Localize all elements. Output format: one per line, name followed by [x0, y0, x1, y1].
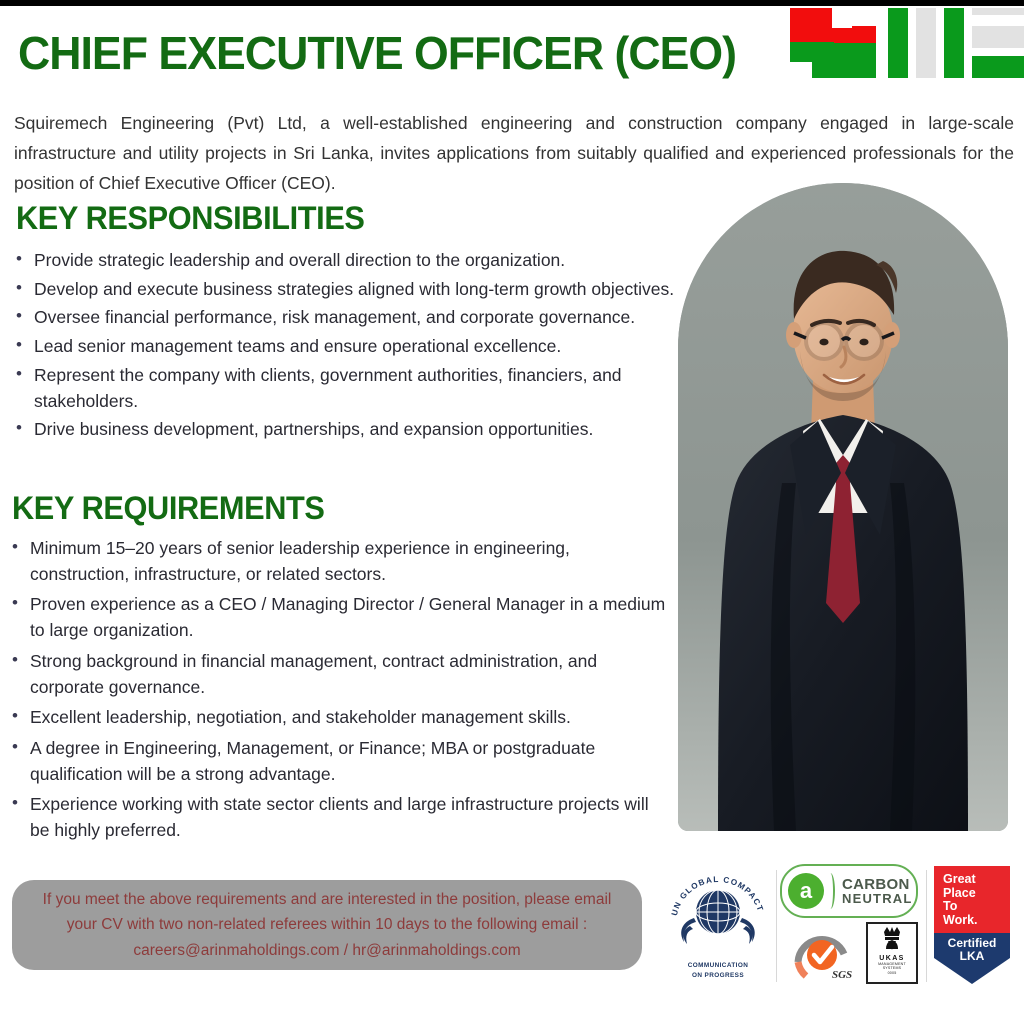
logo-e-top: [972, 8, 1024, 15]
executive-photo: [678, 183, 1008, 831]
certification-badges: UN GLOBAL COMPACT COMMUNICATION ON PROGR…: [652, 862, 1024, 990]
requirements-heading: KEY REQUIREMENTS: [12, 490, 324, 527]
un-label-line-1: COMMUNICATION: [660, 961, 776, 971]
list-item: Provide strategic leadership and overall…: [12, 248, 680, 274]
badge-divider-1: [776, 870, 777, 982]
great-place-to-work-badge: Great Place To Work. Certified LKA: [934, 866, 1014, 988]
sgs-label: SGS: [832, 969, 852, 981]
squiremech-logo: [776, 6, 1004, 78]
ukas-number: 0005: [868, 971, 916, 975]
ukas-box: UKAS MANAGEMENT SYSTEMS 0005: [866, 922, 918, 984]
gptw-title: Great Place To Work.: [943, 873, 978, 927]
logo-e-bottom: [972, 56, 1024, 78]
list-item: Proven experience as a CEO / Managing Di…: [8, 592, 672, 643]
carbon-neutral-pill: a CARBON NEUTRAL: [780, 864, 918, 918]
list-item: Minimum 15–20 years of senior leadership…: [8, 536, 672, 587]
gptw-shield: Great Place To Work. Certified LKA: [934, 866, 1010, 984]
carbon-neutral-mark-icon: a: [788, 873, 824, 909]
badge-divider-2: [926, 870, 927, 982]
logo-bar-green-2: [944, 8, 964, 78]
gptw-line-4: Work.: [943, 914, 978, 928]
logo-red-step: [834, 26, 876, 43]
list-item: Strong background in financial managemen…: [8, 649, 672, 700]
contact-line-1: If you meet the above requirements and a…: [43, 887, 612, 912]
list-item: Drive business development, partnerships…: [12, 417, 680, 443]
responsibilities-list: Provide strategic leadership and overall…: [12, 248, 680, 446]
contact-line-2: your CV with two non-related referees wi…: [43, 912, 612, 937]
contact-email-line[interactable]: careers@arinmaholdings.com / hr@arinmaho…: [43, 938, 612, 963]
application-contact-box: If you meet the above requirements and a…: [12, 880, 642, 970]
list-item: Excellent leadership, negotiation, and s…: [8, 705, 672, 731]
responsibilities-heading: KEY RESPONSIBILITIES: [16, 200, 365, 237]
list-item: Develop and execute business strategies …: [12, 277, 680, 303]
logo-bar-gray: [916, 8, 936, 78]
sgs-badge: SGS: [792, 924, 856, 982]
sgs-check-icon: SGS: [792, 924, 856, 982]
logo-e-middle: [972, 26, 1024, 48]
gptw-certification: Certified LKA: [934, 937, 1010, 964]
job-advertisement-page: CHIEF EXECUTIVE OFFICER (CEO) Squiremech…: [0, 0, 1024, 1024]
gptw-line-3: To: [943, 900, 978, 914]
logo-notch-bottom: [790, 62, 812, 78]
gptw-certified: Certified: [934, 937, 1010, 950]
logo-bar-green-1: [888, 8, 908, 78]
ukas-badge: UKAS MANAGEMENT SYSTEMS 0005: [866, 922, 918, 984]
page-title: CHIEF EXECUTIVE OFFICER (CEO): [18, 26, 736, 80]
list-item: Lead senior management teams and ensure …: [12, 334, 680, 360]
carbon-label-line-2: NEUTRAL: [842, 892, 913, 905]
un-label-line-2: ON PROGRESS: [660, 971, 776, 981]
contact-text: If you meet the above requirements and a…: [29, 887, 626, 962]
logo-notch-top: [832, 8, 852, 28]
carbon-neutral-text: CARBON NEUTRAL: [842, 877, 913, 905]
un-globe-icon: UN GLOBAL COMPACT: [660, 866, 776, 954]
ukas-crown-icon: [869, 924, 915, 950]
gptw-line-2: Place: [943, 887, 978, 901]
list-item: Experience working with state sector cli…: [8, 792, 672, 843]
carbon-neutral-badge: a CARBON NEUTRAL: [780, 864, 920, 924]
un-global-compact-badge: UN GLOBAL COMPACT COMMUNICATION ON PROGR…: [660, 866, 776, 988]
requirements-list: Minimum 15–20 years of senior leadership…: [8, 536, 672, 849]
photo-illustration: [678, 183, 1008, 831]
carbon-neutral-arc: [826, 873, 835, 909]
gptw-line-1: Great: [943, 873, 978, 887]
list-item: Oversee financial performance, risk mana…: [12, 305, 680, 331]
ukas-label: UKAS: [868, 955, 916, 962]
carbon-label-line-1: CARBON: [842, 877, 913, 892]
un-badge-label: COMMUNICATION ON PROGRESS: [660, 961, 776, 980]
gptw-country: LKA: [934, 950, 1010, 963]
list-item: A degree in Engineering, Management, or …: [8, 736, 672, 787]
list-item: Represent the company with clients, gove…: [12, 363, 680, 414]
